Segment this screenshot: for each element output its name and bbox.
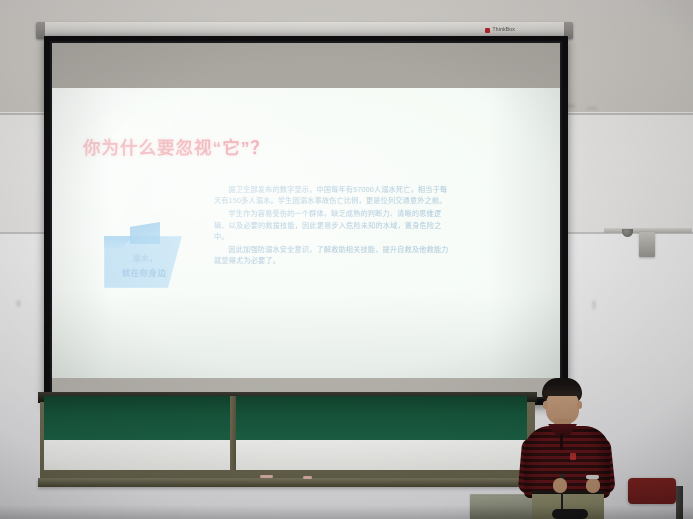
- presenter-shirt-emblem: [570, 453, 576, 460]
- chalkboard: [38, 392, 537, 491]
- wall-mark-1: [16, 300, 21, 307]
- red-chair: [628, 478, 676, 504]
- chalkboard-green-right: [236, 396, 527, 440]
- presenter-placket: [560, 434, 563, 450]
- chalkboard-panel-right: [236, 396, 527, 470]
- chalkboard-green-left: [44, 396, 230, 440]
- chalk-piece-1: [260, 475, 273, 478]
- slide-paragraph-3: 因此加强防溺水安全意识，了解救助相关技能，提升自救及他救能力就显得尤为必要了。: [214, 244, 452, 266]
- slide-paragraph-1: 据卫生部发布的数字显示，中国每年有57000人溺水死亡，相当于每天有150多人溺…: [214, 184, 452, 206]
- projected-slide: 你为什么要忽视“它”？ 溺水， 就在你身边 据卫生部发布的数字显示，中国每年有5…: [52, 88, 560, 378]
- banner-line-2: 就在你身边: [107, 267, 181, 279]
- slide-banner-graphic: 溺水， 就在你身边: [104, 222, 182, 288]
- screen-brand-logo: ThinkBox: [485, 26, 515, 35]
- presenter-ear-left: [543, 401, 548, 409]
- presenter-ear-right: [577, 401, 582, 409]
- brand-name-label: ThinkBox: [493, 28, 515, 33]
- lecture-room-photo: ThinkBox 你为什么要忽视“它”？ 溺水， 就在你身边 据卫生部发布的数字…: [0, 0, 693, 519]
- chalk-piece-2: [303, 476, 312, 479]
- presenter: [508, 378, 626, 519]
- projection-screen-frame: 你为什么要忽视“它”？ 溺水， 就在你身边 据卫生部发布的数字显示，中国每年有5…: [44, 36, 568, 405]
- wall-mark-4: [586, 107, 598, 110]
- brand-mark-icon: [485, 28, 490, 33]
- chalkboard-white-right: [236, 440, 527, 470]
- presenter-hand-right: [586, 478, 600, 493]
- banner-line-1: 溺水，: [111, 253, 179, 264]
- wall-mounted-device-box: [639, 232, 655, 257]
- floor-shadow: [0, 505, 693, 519]
- wall-mark-2: [592, 300, 596, 310]
- presenter-wristwatch: [586, 475, 599, 479]
- chalk-ledge: [38, 478, 537, 487]
- presenter-hand-left: [553, 478, 567, 493]
- presenter-fringe: [544, 386, 581, 396]
- slide-body-text: 据卫生部发布的数字显示，中国每年有57000人溺水死亡，相当于每天有150多人溺…: [214, 184, 452, 268]
- chalkboard-white-left: [44, 440, 230, 470]
- slide-title: 你为什么要忽视“它”？: [83, 135, 269, 160]
- slide-paragraph-2: 学生作为容易受伤的一个群体，缺乏成熟的判断力、清晰的思维逻辑、以及必要的救援技能…: [214, 208, 452, 242]
- chalkboard-panel-left: [44, 396, 230, 470]
- banner-flag-fold: [130, 222, 160, 244]
